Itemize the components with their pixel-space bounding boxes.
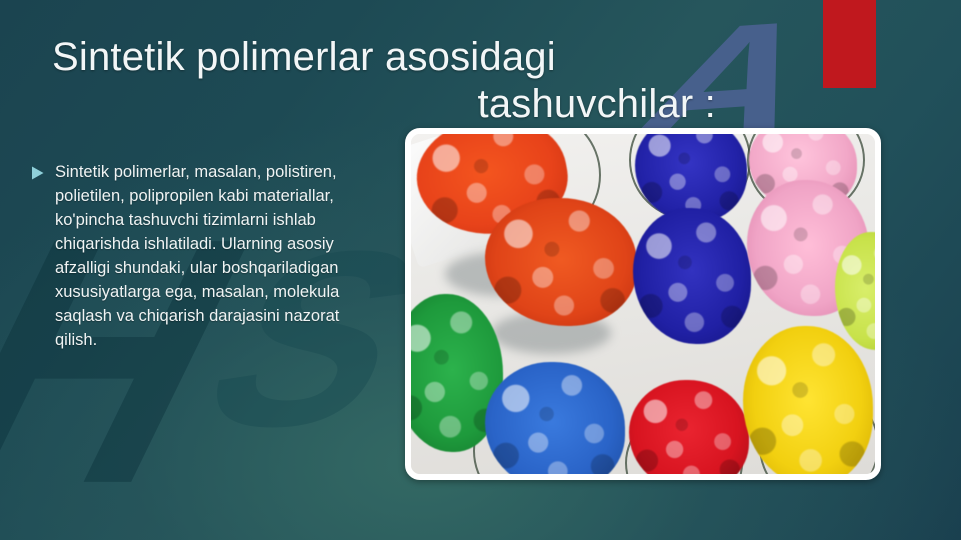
- dark-blue-pellets-pile: [633, 208, 751, 344]
- polymer-pellets-photo: [411, 134, 875, 474]
- red-pellets-pile: [629, 380, 749, 474]
- yellow-pellets-pile: [743, 326, 873, 474]
- presentation-slide: H S A Sintetik polimerlar asosidagi tash…: [0, 0, 961, 540]
- title-line-1: Sintetik polimerlar asosidagi: [52, 34, 732, 81]
- triangle-bullet-icon: [30, 165, 46, 181]
- red-accent-bar: [823, 0, 876, 88]
- slide-title: Sintetik polimerlar asosidagi tashuvchil…: [52, 34, 732, 128]
- body-paragraph: Sintetik polimerlar, masalan, polistiren…: [55, 160, 380, 352]
- red-orange-pellets-pile: [485, 198, 637, 326]
- title-line-2: tashuvchilar :: [52, 81, 732, 128]
- blue-pellets-pile: [485, 362, 625, 474]
- bullet-list-item: Sintetik polimerlar, masalan, polistiren…: [30, 160, 380, 352]
- content-photo-frame: [405, 128, 881, 480]
